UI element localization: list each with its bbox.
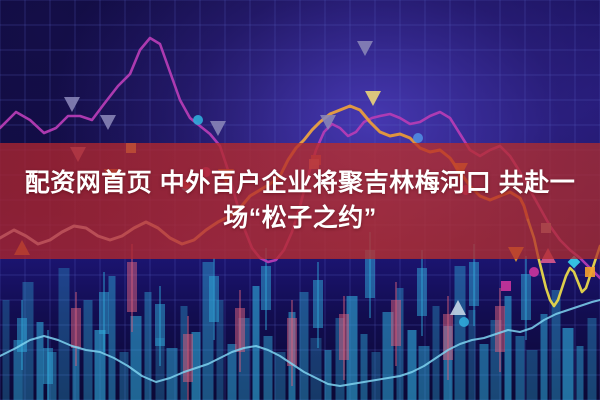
stock-banner-image: 配资网首页 中外百户企业将聚吉林梅河口 共赴一 场“松子之约” <box>0 0 600 400</box>
headline-line-2: 场“松子之约” <box>223 201 377 237</box>
headline-line-1: 配资网首页 中外百户企业将聚吉林梅河口 共赴一 <box>25 166 575 202</box>
headline-banner: 配资网首页 中外百户企业将聚吉林梅河口 共赴一 场“松子之约” <box>0 143 600 259</box>
